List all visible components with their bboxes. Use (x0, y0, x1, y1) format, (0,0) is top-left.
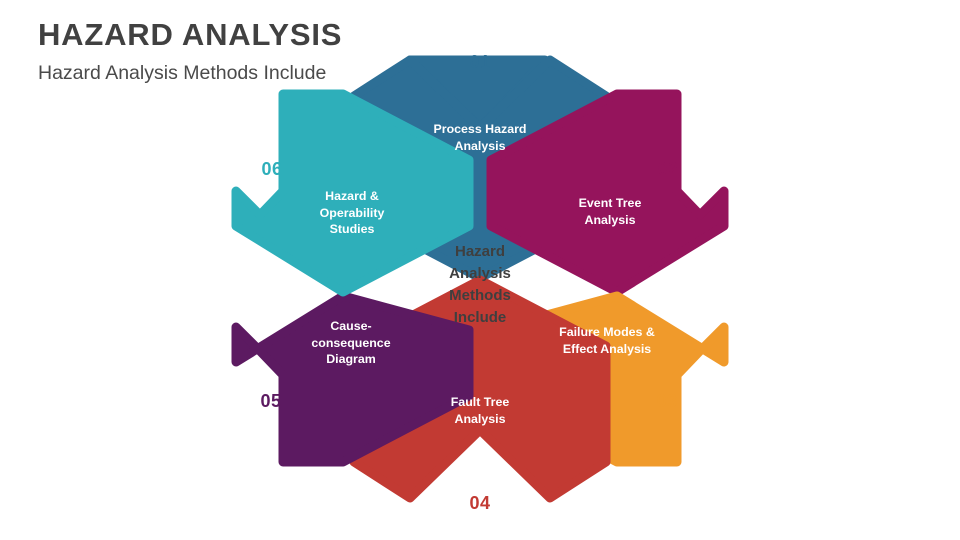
hexagon-number-02: 02 (645, 159, 691, 180)
hexagon-shapes-svg (225, 28, 735, 528)
hexagon-number-03: 03 (644, 391, 690, 412)
hexagon-number-01: 01 (457, 52, 503, 73)
hexagon-number-05: 05 (248, 391, 294, 412)
hexagon-number-06: 06 (249, 159, 295, 180)
slide-canvas: HAZARD ANALYSIS Hazard Analysis Methods … (0, 0, 960, 540)
hexagon-cycle-diagram: Process Hazard Analysis Event Tree Analy… (225, 28, 735, 528)
hexagon-number-04: 04 (457, 493, 503, 514)
